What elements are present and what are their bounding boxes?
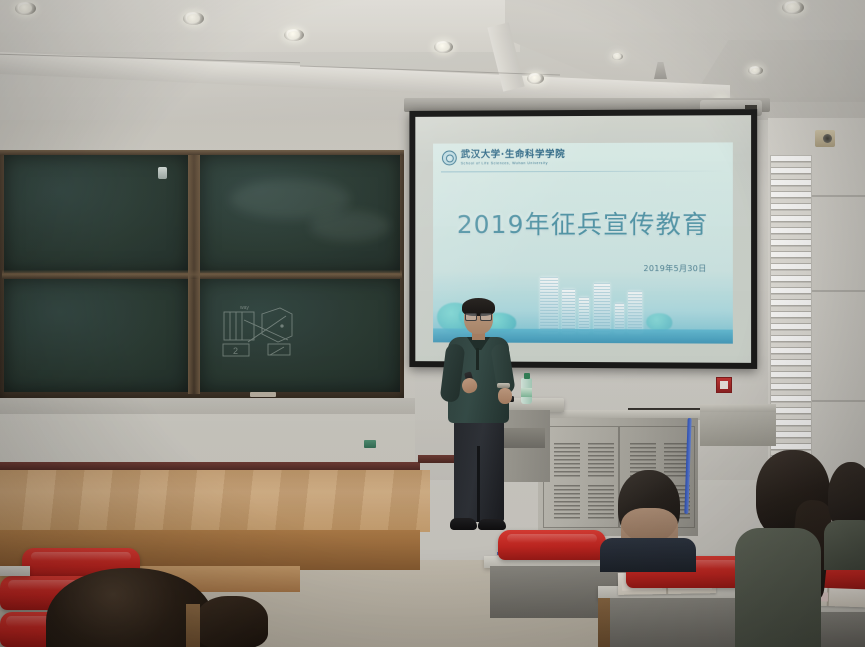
downlight-7 bbox=[748, 66, 763, 75]
chalkboard-panel bbox=[200, 155, 400, 273]
desk-side-panel bbox=[598, 598, 610, 647]
stage-platform bbox=[0, 470, 430, 532]
presenter-speaker bbox=[440, 300, 520, 536]
slide-institution-name-cn: 武汉大学·生命科学学院 bbox=[461, 150, 566, 160]
cabinet-door[interactable] bbox=[543, 426, 619, 528]
student-olive-jacket bbox=[735, 528, 821, 647]
downlight-5 bbox=[527, 73, 544, 84]
downlight-1 bbox=[15, 2, 36, 15]
slide-institution-name-en: School of Life Sciences, Wuhan Universit… bbox=[461, 161, 566, 166]
student-front-left-second bbox=[196, 596, 268, 647]
downlight-3 bbox=[284, 29, 304, 41]
chalkboard-diagram-sketch: 2 way bbox=[222, 302, 308, 360]
student-desk bbox=[0, 566, 30, 576]
chalkboard-divider bbox=[2, 270, 402, 279]
desk-side-panel bbox=[186, 604, 200, 647]
downlight-9 bbox=[612, 53, 623, 60]
svg-text:2: 2 bbox=[233, 346, 238, 356]
chalkboard-magnet-clip bbox=[158, 167, 167, 179]
downlight-6 bbox=[782, 1, 804, 14]
chalkboard-panel bbox=[4, 278, 188, 392]
slide-header-rule bbox=[441, 171, 725, 173]
slide-title: 2019年征兵宣传教育 bbox=[433, 205, 733, 241]
svg-text:way: way bbox=[240, 305, 249, 311]
wall-shelf-object bbox=[364, 440, 376, 448]
chalk-tray-eraser bbox=[250, 392, 276, 397]
presenter-shoe bbox=[478, 519, 506, 530]
classroom-photo-scene: 2 way 武汉大学·生命科学学院 School of Life Science… bbox=[0, 0, 865, 647]
downlight-4 bbox=[434, 41, 453, 53]
side-av-desk-body bbox=[700, 412, 776, 446]
auditorium-chair bbox=[498, 530, 606, 560]
slide-logo: 武汉大学·生命科学学院 School of Life Sciences, Wuh… bbox=[442, 150, 565, 165]
eyeglasses-icon bbox=[465, 313, 492, 319]
water-bottle bbox=[521, 378, 532, 404]
presenter-hand bbox=[498, 388, 512, 404]
presenter-shoe bbox=[450, 518, 477, 530]
chalkboard-divider bbox=[188, 154, 200, 394]
downlight-2 bbox=[183, 12, 204, 25]
wall-mounted-speaker-box bbox=[815, 130, 835, 147]
fire-alarm-pull-station bbox=[716, 377, 732, 393]
wall-trim-band bbox=[0, 398, 415, 414]
classroom-chalkboard bbox=[0, 150, 404, 398]
university-seal-icon bbox=[442, 150, 457, 165]
student-shirt bbox=[824, 520, 865, 570]
wall-ventilation-louver bbox=[770, 155, 812, 487]
student-shirt bbox=[600, 538, 696, 572]
